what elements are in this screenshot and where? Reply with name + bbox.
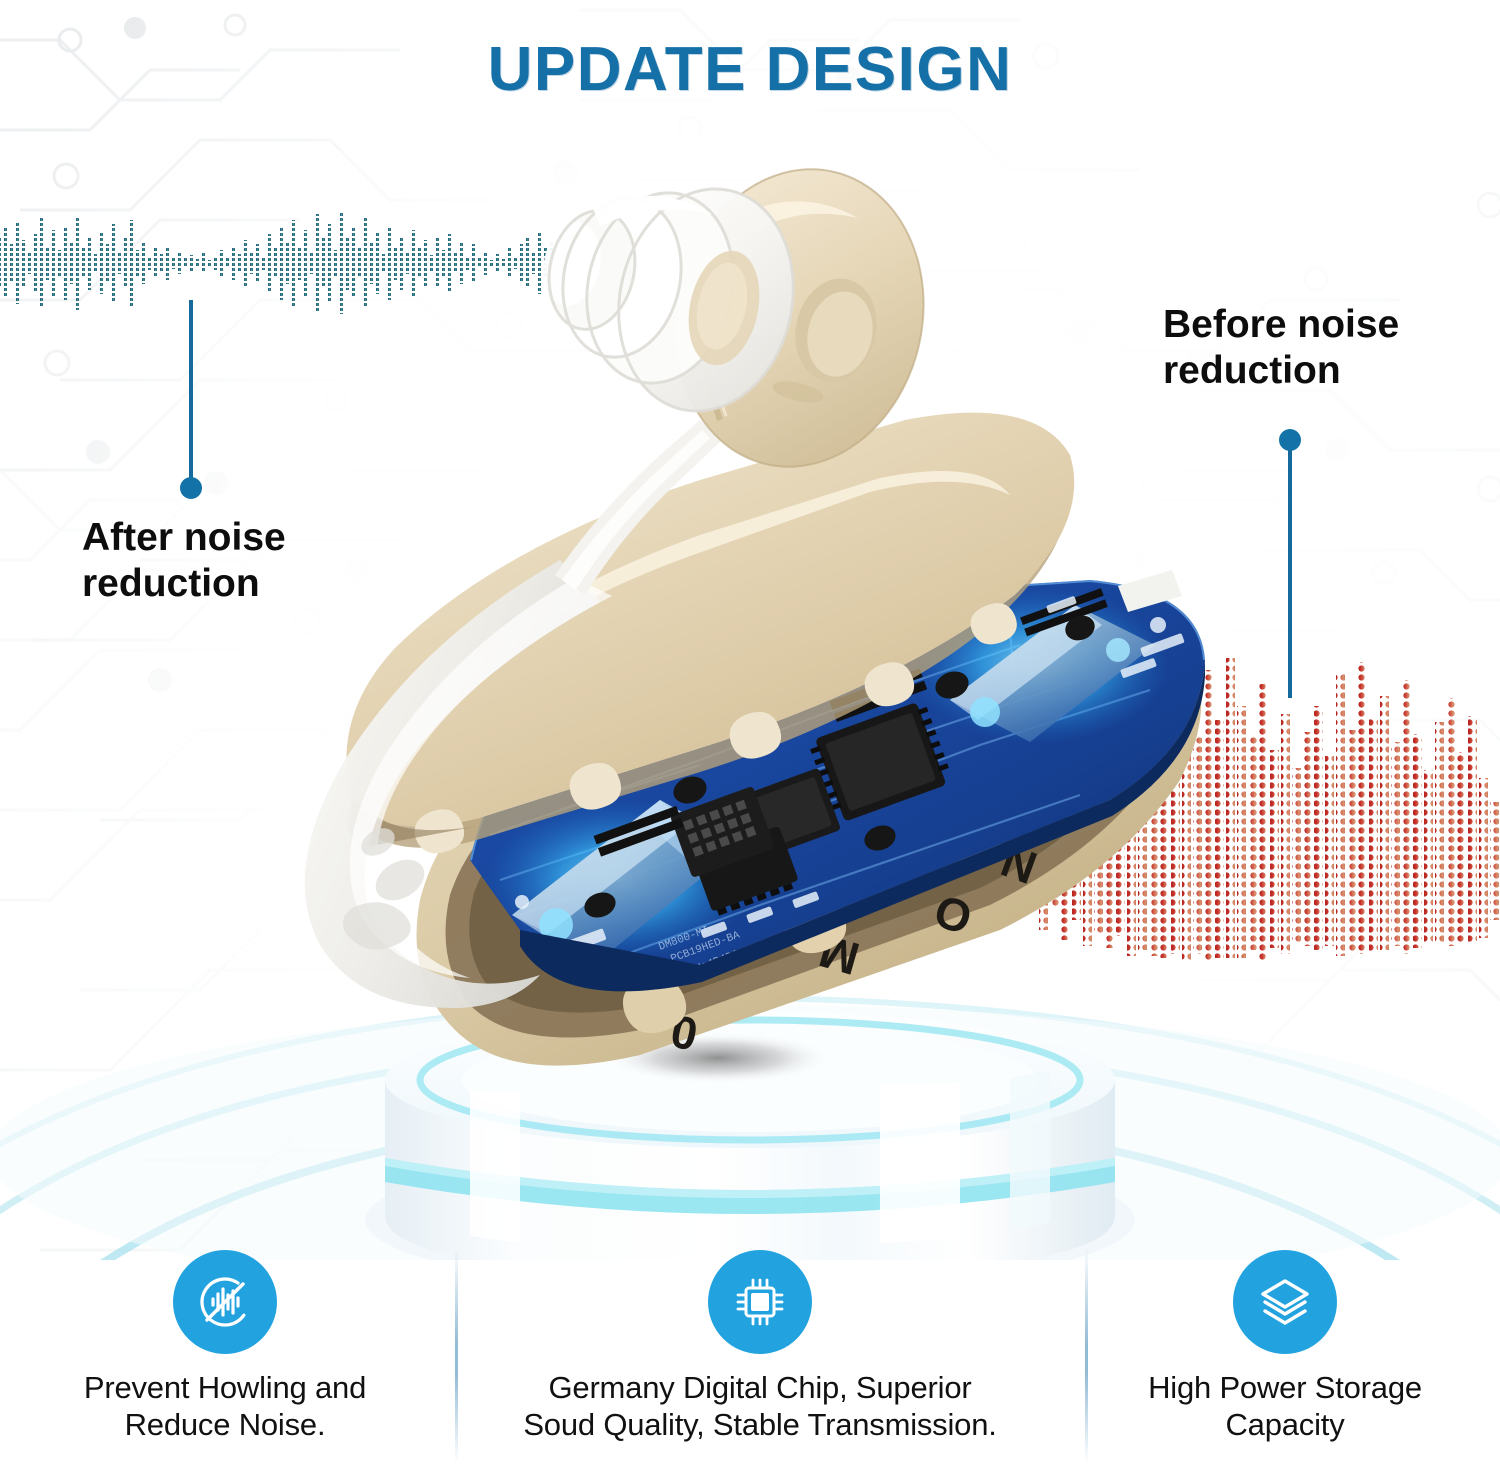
- feature-caption: High Power Storage Capacity: [1148, 1370, 1422, 1443]
- feature-caption: Germany Digital Chip, Superior Soud Qual…: [523, 1370, 996, 1443]
- chip-icon-circle: [708, 1250, 812, 1354]
- product-infographic: UPDATE DESIGN: [0, 0, 1500, 1470]
- feature-list: Prevent Howling and Reduce Noise.: [0, 1242, 1500, 1470]
- feature-item-digital-chip: Germany Digital Chip, Superior Soud Qual…: [450, 1242, 1070, 1443]
- chip-icon: [730, 1272, 790, 1332]
- product-stage: N O M 0: [0, 0, 1500, 1260]
- feature-item-prevent-howling: Prevent Howling and Reduce Noise.: [0, 1242, 450, 1443]
- feature-item-power-storage: High Power Storage Capacity: [1070, 1242, 1500, 1443]
- no-noise-icon: [193, 1270, 257, 1334]
- no-noise-icon-circle: [173, 1250, 277, 1354]
- layers-icon: [1254, 1271, 1316, 1333]
- feature-caption: Prevent Howling and Reduce Noise.: [84, 1370, 366, 1443]
- layers-icon-circle: [1233, 1250, 1337, 1354]
